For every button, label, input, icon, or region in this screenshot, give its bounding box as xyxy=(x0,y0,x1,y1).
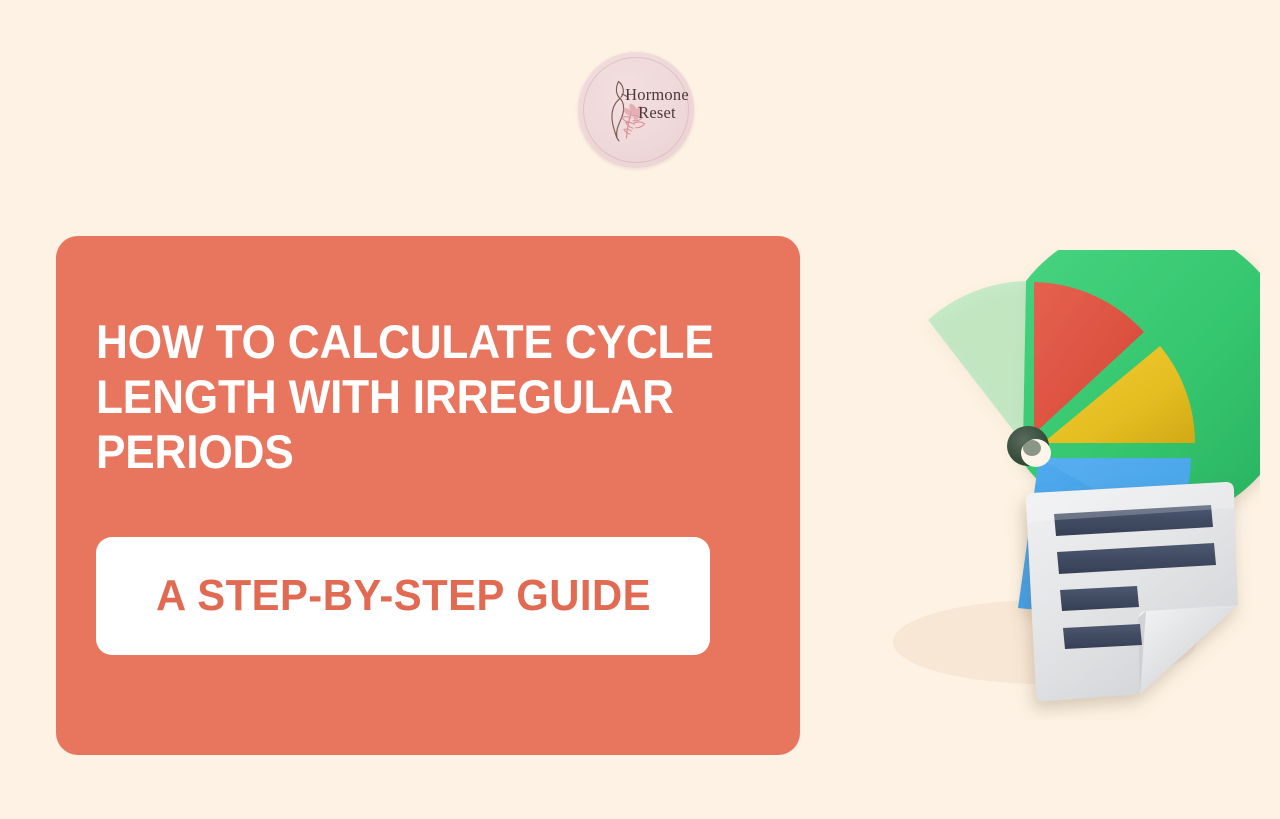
document-sheet xyxy=(1026,482,1238,701)
pie-chart-illustration xyxy=(840,250,1260,720)
page-title: HOW TO CALCULATE CYCLE LENGTH WITH IRREG… xyxy=(96,314,716,480)
step-by-step-guide-button[interactable]: A STEP-BY-STEP GUIDE xyxy=(96,537,710,655)
logo-word-reset: Reset xyxy=(622,104,692,122)
logo-word-hormone: Hormone xyxy=(622,86,692,104)
cta-button-label: A STEP-BY-STEP GUIDE xyxy=(156,571,651,621)
logo-wordmark: Hormone Reset xyxy=(622,86,692,122)
pie-slice-green-highlight xyxy=(928,281,1026,443)
document-folded-corner xyxy=(1138,605,1238,694)
hormone-reset-logo[interactable]: Hormone Reset xyxy=(578,52,694,168)
document-line-4 xyxy=(1063,624,1142,649)
document-line-3 xyxy=(1060,586,1139,611)
poster-canvas: Hormone Reset HOW TO CALCULATE CYCLE LEN… xyxy=(0,0,1280,819)
pie-chart-svg xyxy=(840,250,1260,720)
headline-card: HOW TO CALCULATE CYCLE LENGTH WITH IRREG… xyxy=(56,236,800,755)
